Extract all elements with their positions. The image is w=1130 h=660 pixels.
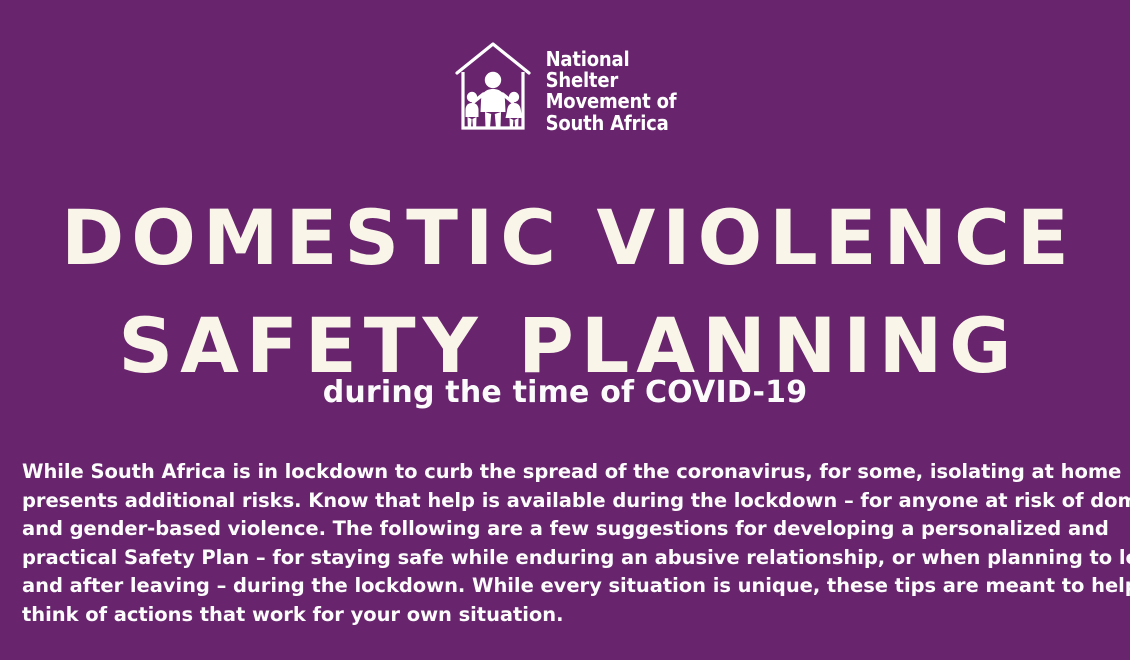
poster-canvas: National Shelter Movement of South Afric… [0,0,1130,660]
wordmark-line-1: National [546,49,677,70]
page-title: DOMESTIC VIOLENCE SAFETY PLANNING [0,184,1130,400]
wordmark-line-3: Movement of [546,91,677,112]
intro-paragraph: While South Africa is in lockdown to cur… [22,458,1116,629]
organization-wordmark: National Shelter Movement of South Afric… [546,40,677,134]
wordmark-line-2: Shelter [546,70,677,91]
wordmark-line-4: South Africa [546,113,677,134]
body-line-3: and gender-based violence. The following… [22,515,1116,544]
headline-line-1: DOMESTIC VIOLENCE [0,184,1130,292]
house-with-family-icon [454,40,532,132]
page-subtitle: during the time of COVID-19 [0,375,1130,411]
body-line-5: and after leaving – during the lockdown.… [22,572,1116,601]
body-line-2: presents additional risks. Know that hel… [22,487,1116,516]
organization-logo: National Shelter Movement of South Afric… [0,40,1130,134]
body-line-1: While South Africa is in lockdown to cur… [22,458,1116,487]
body-line-4: practical Safety Plan – for staying safe… [22,544,1116,573]
body-line-6: think of actions that work for your own … [22,601,1116,630]
